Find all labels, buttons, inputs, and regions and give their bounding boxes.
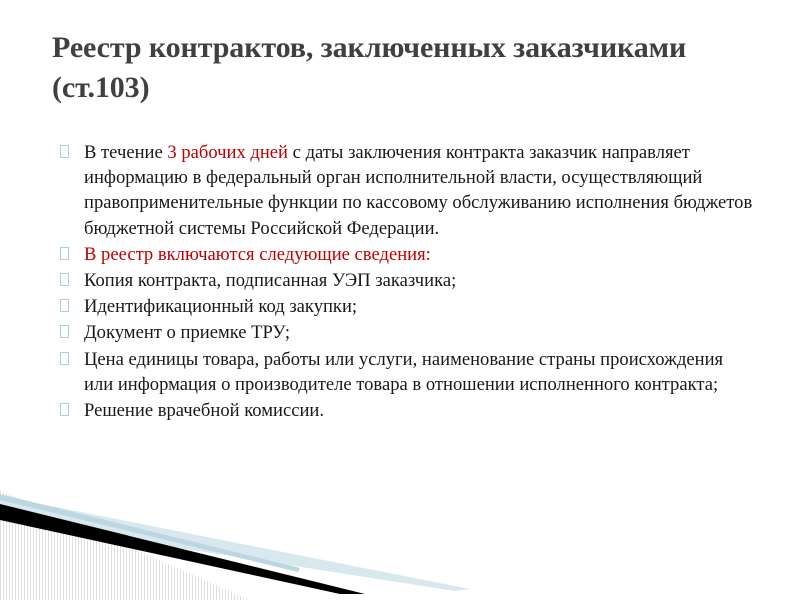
hollow-square-bullet-icon bbox=[60, 299, 69, 312]
title-placeholder: Реестр контрактов, заключенных заказчика… bbox=[52, 28, 752, 108]
hollow-square-bullet-icon bbox=[60, 325, 69, 338]
hollow-square-bullet-icon bbox=[60, 247, 69, 260]
slide-canvas: Реестр контрактов, заключенных заказчика… bbox=[0, 0, 800, 600]
list-item-text: Цена единицы товара, работы или услуги, … bbox=[84, 349, 723, 395]
hollow-square-bullet-icon bbox=[60, 403, 69, 416]
decor-black-wedge bbox=[0, 504, 365, 594]
decor-blue-hairline bbox=[0, 494, 300, 572]
hollow-square-bullet-icon bbox=[60, 273, 69, 286]
list-item-text: Документ о приемке ТРУ; bbox=[84, 322, 290, 343]
list-item-text: В реестр включаются следующие сведения: bbox=[84, 244, 431, 265]
list-item: Идентификационный код закупки; bbox=[56, 294, 756, 319]
list-item-text-before: В течение bbox=[84, 142, 167, 163]
content-placeholder: В течение 3 рабочих дней с даты заключен… bbox=[56, 140, 756, 424]
hollow-square-bullet-icon bbox=[60, 352, 69, 365]
list-item-highlight: 3 рабочих дней bbox=[167, 142, 288, 163]
list-item: Решение врачебной комиссии. bbox=[56, 398, 756, 423]
list-item: Документ о приемке ТРУ; bbox=[56, 320, 756, 345]
page-title: Реестр контрактов, заключенных заказчика… bbox=[52, 28, 752, 108]
list-item: Цена единицы товара, работы или услуги, … bbox=[56, 347, 756, 397]
angles-theme-footer-decoration bbox=[0, 490, 800, 600]
list-item-text: Решение врачебной комиссии. bbox=[84, 400, 324, 421]
list-item-text: Идентификационный код закупки; bbox=[84, 296, 357, 317]
list-item: Копия контракта, подписанная УЭП заказчи… bbox=[56, 268, 756, 293]
decor-blue-band bbox=[0, 496, 470, 591]
list-item: В реестр включаются следующие сведения: bbox=[56, 242, 756, 267]
list-item-text: Копия контракта, подписанная УЭП заказчи… bbox=[84, 270, 456, 291]
list-item: В течение 3 рабочих дней с даты заключен… bbox=[56, 140, 756, 241]
hollow-square-bullet-icon bbox=[60, 145, 69, 158]
